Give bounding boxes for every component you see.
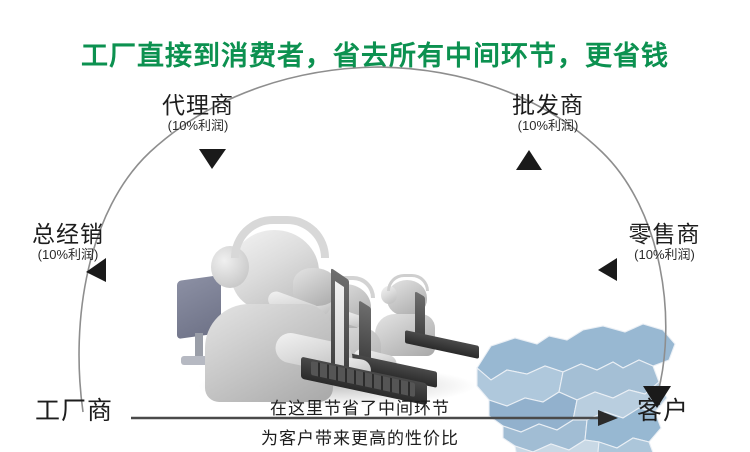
caption-savings: 在这里节省了中间环节 [235, 394, 485, 419]
chain-node-distributor-label: 总经销 [8, 222, 128, 246]
chain-node-retailer-label: 零售商 [602, 222, 727, 246]
chain-node-customer[interactable]: 客户 [608, 398, 718, 424]
chain-node-agent-margin: (10%利润) [138, 118, 258, 135]
chain-node-retailer[interactable]: 零售商 (10%利润) [602, 222, 727, 264]
chain-node-agent-label: 代理商 [138, 93, 258, 117]
chain-node-wholesaler[interactable]: 批发商 (10%利润) [488, 93, 608, 135]
caption-value: 为客户带来更高的性价比 [235, 424, 485, 449]
infographic-canvas: 工厂直接到消费者，省去所有中间环节，更省钱 [0, 0, 750, 452]
chain-node-distributor[interactable]: 总经销 (10%利润) [8, 222, 128, 264]
chain-node-agent[interactable]: 代理商 (10%利润) [138, 93, 258, 135]
chain-node-customer-label: 客户 [608, 398, 718, 424]
chain-node-factory-label: 工厂商 [14, 398, 134, 424]
arrowhead-to-agent [199, 149, 226, 169]
chain-node-factory[interactable]: 工厂商 [14, 398, 134, 424]
chain-node-wholesaler-margin: (10%利润) [488, 118, 608, 135]
chain-node-retailer-margin: (10%利润) [602, 247, 727, 264]
arrowhead-to-wholesaler [516, 150, 542, 170]
chain-node-wholesaler-label: 批发商 [488, 93, 608, 117]
chain-node-distributor-margin: (10%利润) [8, 247, 128, 264]
